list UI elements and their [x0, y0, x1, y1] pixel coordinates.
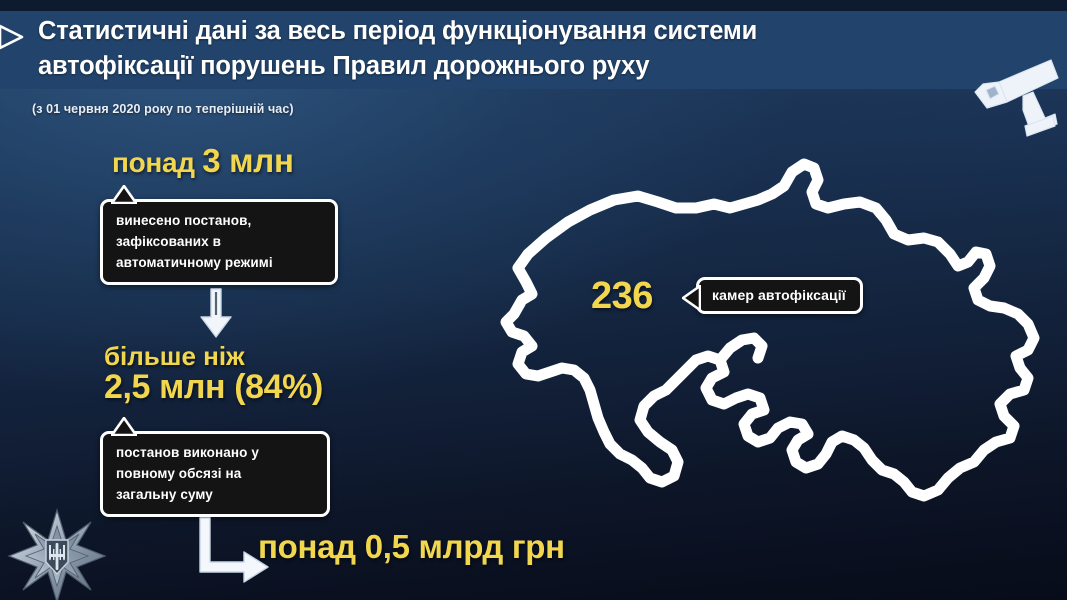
page-title: Статистичні дані за весь період функціон…	[38, 14, 1038, 84]
stat-1-value: 3 млн	[202, 142, 293, 179]
cameras-count: 236	[591, 275, 653, 318]
callout-1-text: винесено постанов, зафіксованих в автома…	[116, 210, 324, 273]
stat-1-prefix: понад	[112, 147, 202, 178]
triangle-right-icon	[0, 22, 26, 52]
cctv-camera-icon	[965, 52, 1061, 140]
infographic-canvas: Статистичні дані за весь період функціон…	[0, 0, 1067, 600]
arrow-left-icon	[682, 285, 701, 311]
callout-2-text: постанов виконано у повному обсязі на за…	[116, 442, 316, 505]
callout-box-2: постанов виконано у повному обсязі на за…	[100, 431, 330, 517]
callout-box-cameras: камер автофіксації	[696, 277, 863, 314]
police-star-badge-icon	[5, 508, 109, 600]
stat-2-line-2: 2,5 млн (84%)	[104, 372, 323, 403]
title-line-2: автофіксації порушень Правил дорожнього …	[38, 49, 1038, 84]
stat-2-line-1: більше ніж	[104, 341, 245, 371]
title-line-1: Статистичні дані за весь період функціон…	[38, 14, 1038, 49]
arrow-down-icon	[198, 287, 234, 339]
cameras-label: камер автофіксації	[712, 287, 846, 304]
header-subtitle: (з 01 червня 2020 року по теперішній час…	[32, 102, 294, 116]
top-dark-band	[0, 0, 1067, 11]
ukraine-map-outline-icon	[462, 142, 1062, 542]
stat-block-1-heading: понад 3 млн	[112, 142, 294, 180]
callout-notch-up-icon	[111, 417, 137, 436]
callout-box-1: винесено постанов, зафіксованих в автома…	[100, 199, 338, 285]
stat-block-2-heading: більше ніж 2,5 млн (84%)	[104, 341, 323, 403]
callout-notch-up-icon	[111, 185, 137, 204]
